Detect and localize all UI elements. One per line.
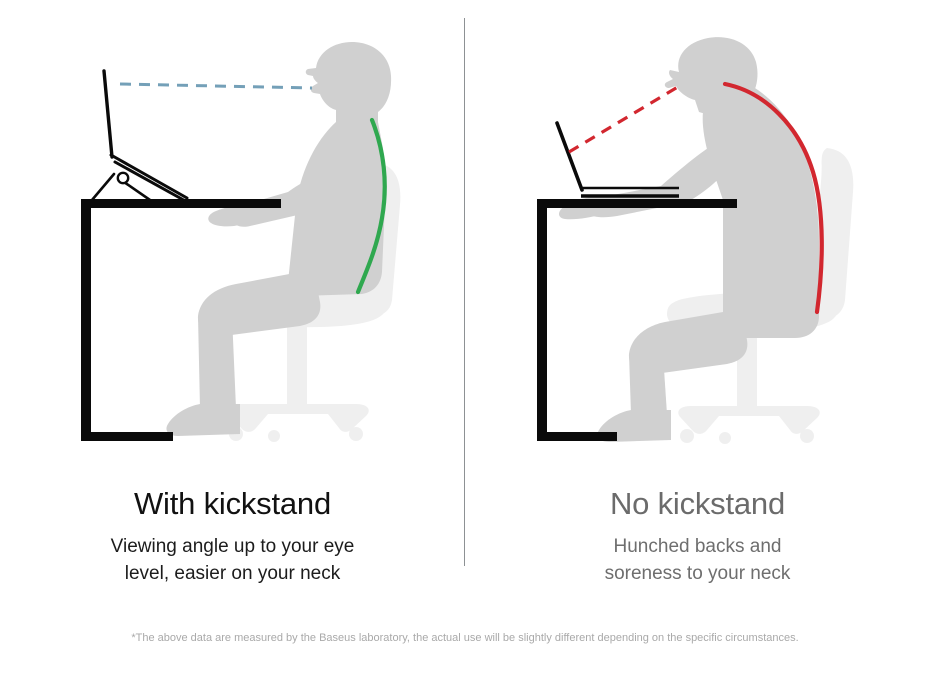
subtitle-line-2: level, easier on your neck <box>0 560 465 587</box>
laptop-screen <box>557 123 582 190</box>
panel-subtitle-no-kickstand: Hunched backs and soreness to your neck <box>465 533 930 587</box>
panel-no-kickstand: No kickstand Hunched backs and soreness … <box>465 0 930 620</box>
downward-sightline <box>569 85 681 152</box>
laptop-screen <box>104 71 112 157</box>
panel-with-kickstand: With kickstand Viewing angle up to your … <box>0 0 465 620</box>
kickstand-pivot-hinge <box>118 173 128 183</box>
seated-person-silhouette <box>559 37 819 442</box>
comparison-infographic: With kickstand Viewing angle up to your … <box>0 0 930 699</box>
illustration-with-kickstand <box>0 0 465 470</box>
eye-level-sightline <box>120 84 312 88</box>
footnote-disclaimer: *The above data are measured by the Base… <box>0 630 930 646</box>
panel-subtitle-with-kickstand: Viewing angle up to your eye level, easi… <box>0 533 465 587</box>
illustration-no-kickstand <box>465 0 930 470</box>
panel-divider <box>464 18 465 566</box>
panel-title-no-kickstand: No kickstand <box>465 484 930 524</box>
caption-block-with-kickstand: With kickstand Viewing angle up to your … <box>0 484 465 587</box>
caption-block-no-kickstand: No kickstand Hunched backs and soreness … <box>465 484 930 587</box>
subtitle-line-1: Hunched backs and <box>465 533 930 560</box>
seated-person-silhouette <box>166 42 391 436</box>
subtitle-line-1: Viewing angle up to your eye <box>0 533 465 560</box>
subtitle-line-2: soreness to your neck <box>465 560 930 587</box>
panel-title-with-kickstand: With kickstand <box>0 484 465 524</box>
